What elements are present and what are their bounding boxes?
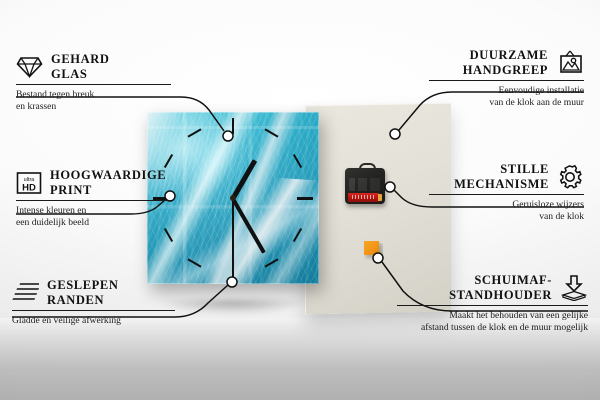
callout-desc-line2: van de klok (429, 211, 584, 223)
callout-title-line2: PRINT (50, 183, 166, 198)
callout-rule (16, 84, 171, 85)
callout-rule (16, 200, 171, 201)
callout-title-line1: GEHARD (51, 52, 109, 67)
callout-rule (12, 310, 175, 311)
callout-rule (429, 80, 584, 81)
callout-desc-line2: een duidelijk beeld (16, 217, 171, 229)
callout-stille-mechanisme[interactable]: STILLE MECHANISME Geruisloze wijzers van… (429, 162, 584, 223)
callout-desc-line1: Eenvoudige installatie (429, 85, 584, 97)
framed-picture-icon (556, 50, 584, 76)
callout-duurzame-handgreep[interactable]: DUURZAME HANDGREEP Eenvoudige installati… (429, 48, 584, 109)
callout-title-line2: RANDEN (47, 293, 119, 308)
callout-desc-line2: afstand tussen de klok en de muur mogeli… (397, 322, 588, 334)
svg-text:HD: HD (22, 182, 36, 193)
callout-title-line1: DUURZAME (463, 48, 548, 63)
callout-geslepen-randen[interactable]: GESLEPEN RANDEN Gladde en veilige afwerk… (12, 278, 175, 327)
callout-desc-line1: Intense kleuren en (16, 205, 171, 217)
callout-hoogwaardige-print[interactable]: ultra HD HOOGWAARDIGE PRINT Intense kleu… (16, 168, 171, 229)
diagonal-lines-icon (12, 281, 39, 305)
product-infographic: GEHARD GLAS Bestand tegen breuk en krass… (0, 0, 600, 400)
callout-desc-line1: Geruisloze wijzers (429, 199, 584, 211)
callout-desc-line2: van de klok aan de muur (429, 97, 584, 109)
callout-gehard-glas[interactable]: GEHARD GLAS Bestand tegen breuk en krass… (16, 52, 171, 113)
callout-title-line1: STILLE (454, 162, 549, 177)
callout-rule (397, 305, 588, 306)
callout-title-line1: SCHUIMAF- (449, 273, 552, 288)
callout-desc-line1: Gladde en veilige afwerking (12, 315, 175, 327)
callout-title-line2: GLAS (51, 67, 109, 82)
ultra-hd-icon: ultra HD (16, 171, 42, 195)
callout-title-line1: HOOGWAARDIGE (50, 168, 166, 183)
callout-desc-line1: Maakt het behouden van een gelijke (397, 310, 588, 322)
callout-title-line2: MECHANISME (454, 177, 549, 192)
down-arrow-pad-icon (560, 274, 588, 301)
diamond-icon (16, 55, 43, 79)
gear-icon (557, 164, 584, 190)
callout-title-line1: GESLEPEN (47, 278, 119, 293)
callout-schuimaf-standhouder[interactable]: SCHUIMAF- STANDHOUDER Maakt het behouden… (397, 273, 588, 334)
callout-title-line2: HANDGREEP (463, 63, 548, 78)
callout-rule (429, 194, 584, 195)
callout-desc-line2: en krassen (16, 101, 171, 113)
callout-desc-line1: Bestand tegen breuk (16, 89, 171, 101)
callout-title-line2: STANDHOUDER (449, 288, 552, 303)
